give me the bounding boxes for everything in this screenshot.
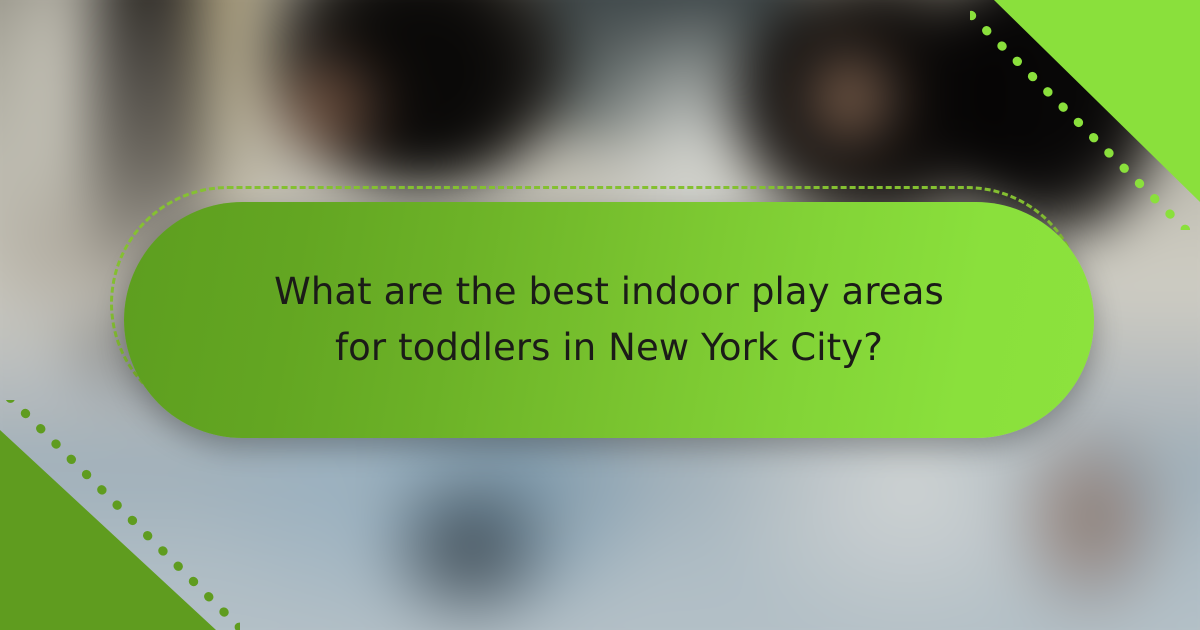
question-text: What are the best indoor play areas for … (163, 264, 1055, 376)
background-blob-lower-shadow (370, 460, 570, 630)
question-card: What are the best indoor play areas for … (124, 202, 1094, 438)
background-blob-person-right-face (785, 28, 915, 168)
background-blob-person-left-face (252, 32, 402, 182)
background-blob-lower-warm (1000, 410, 1180, 630)
social-card-canvas: What are the best indoor play areas for … (0, 0, 1200, 630)
